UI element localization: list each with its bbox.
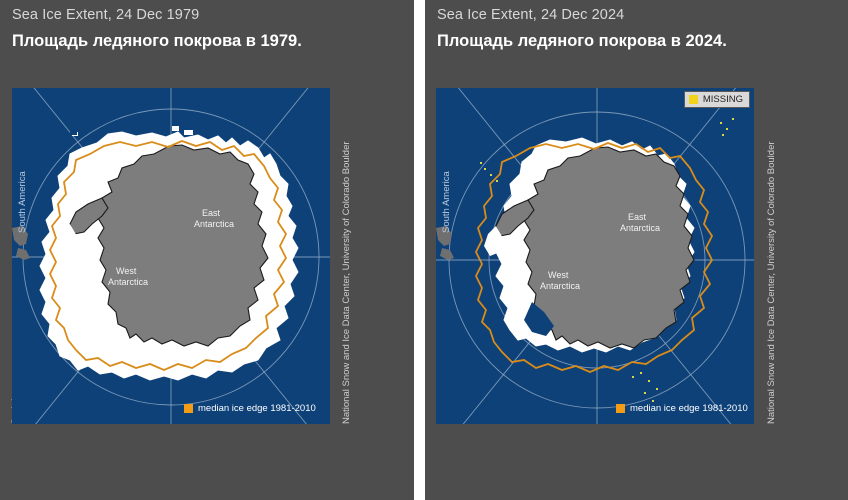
legend-median-ice-edge-2024: median ice edge 1981-2010 bbox=[616, 403, 748, 414]
missing-swatch-icon bbox=[689, 95, 698, 104]
svg-text:Antarctica: Antarctica bbox=[194, 219, 234, 229]
legend-label: median ice edge 1981-2010 bbox=[198, 403, 316, 414]
panel-caption-small-2024: Sea Ice Extent, 24 Dec 2024 bbox=[437, 7, 624, 23]
svg-text:West: West bbox=[116, 266, 137, 276]
map-antarctic-1979[interactable]: East Antarctica West Antarctica South Am… bbox=[12, 88, 330, 424]
map-graphic-1979: East Antarctica West Antarctica bbox=[12, 88, 330, 424]
panel-caption-big-1979: Площадь ледяного покрова в 1979. bbox=[12, 31, 342, 52]
panel-2024: Sea Ice Extent, 24 Dec 2024 Площадь ледя… bbox=[425, 0, 848, 500]
map-graphic-2024: East Antarctica West Antarctica bbox=[436, 88, 754, 424]
svg-text:East: East bbox=[628, 212, 647, 222]
panel-1979: Sea Ice Extent, 24 Dec 1979 Площадь ледя… bbox=[0, 0, 414, 500]
legend-median-ice-edge-1979: median ice edge 1981-2010 bbox=[184, 403, 316, 414]
missing-data-badge: MISSING bbox=[684, 91, 750, 108]
svg-text:East: East bbox=[202, 208, 221, 218]
comparison-figure: Sea Ice Extent, 24 Dec 1979 Площадь ледя… bbox=[0, 0, 848, 500]
region-label-south-america-1979: South America bbox=[17, 171, 28, 233]
svg-text:Antarctica: Antarctica bbox=[620, 223, 660, 233]
svg-text:Antarctica: Antarctica bbox=[540, 281, 580, 291]
credit-label-2024: National Snow and Ice Data Center, Unive… bbox=[766, 141, 777, 424]
panel-caption-small-1979: Sea Ice Extent, 24 Dec 1979 bbox=[12, 7, 199, 23]
panel-caption-big-2024: Площадь ледяного покрова в 2024. bbox=[437, 31, 767, 52]
region-label-south-america-2024: South America bbox=[441, 171, 452, 233]
legend-label: median ice edge 1981-2010 bbox=[630, 403, 748, 414]
svg-text:Antarctica: Antarctica bbox=[108, 277, 148, 287]
credit-label-1979: National Snow and Ice Data Center, Unive… bbox=[341, 141, 352, 424]
missing-label: MISSING bbox=[703, 94, 743, 105]
map-antarctic-2024[interactable]: East Antarctica West Antarctica South Am… bbox=[436, 88, 754, 424]
svg-text:West: West bbox=[548, 270, 569, 280]
legend-swatch-icon bbox=[184, 404, 193, 413]
legend-swatch-icon bbox=[616, 404, 625, 413]
